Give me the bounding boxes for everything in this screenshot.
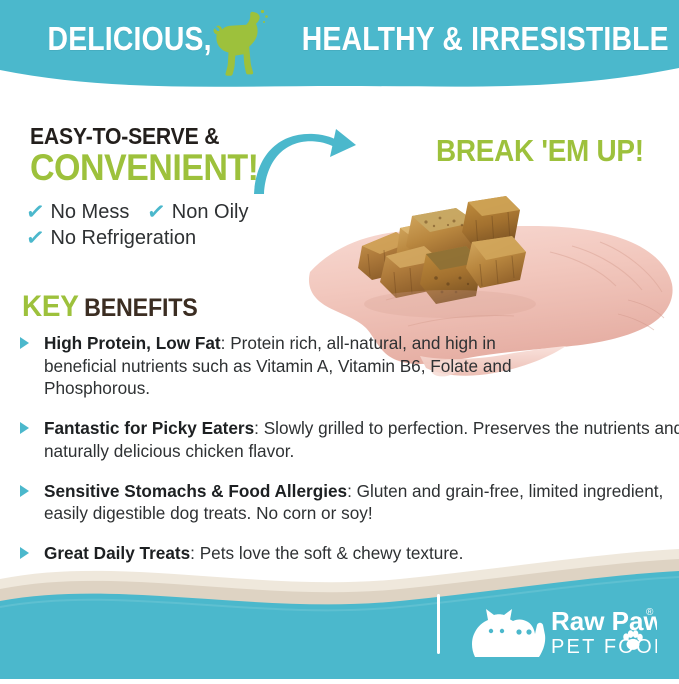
check-label: No Refrigeration	[50, 227, 196, 250]
benefits-list: High Protein, Low Fat: Protein rich, all…	[18, 332, 663, 582]
checks-list: ✓ No Mess ✓ Non Oily ✓ No Refrigeration	[26, 200, 326, 252]
cat-and-dog-silhouette-icon	[472, 609, 545, 657]
key-benefits-heading-key: KEY	[22, 290, 79, 323]
triangle-bullet-icon	[20, 337, 29, 349]
page-title-left: DELICIOUS,	[48, 20, 212, 58]
check-icon: ✓	[25, 226, 46, 250]
benefit-item: High Protein, Low Fat: Protein rich, all…	[18, 332, 564, 400]
benefit-title: Sensitive Stomachs & Food Allergies	[44, 481, 347, 501]
footer-wave: Raw Paws ® PET FOOD	[0, 549, 679, 679]
triangle-bullet-icon	[20, 422, 29, 434]
key-benefits-heading: KEYBENEFITS	[22, 290, 198, 324]
key-benefits-heading-benefits: BENEFITS	[84, 294, 197, 322]
brand-name: Raw Paws	[551, 606, 657, 636]
checks-row-2: ✓ No Refrigeration	[26, 226, 326, 250]
check-label: Non Oily	[172, 201, 249, 224]
check-item-non-oily: ✓ Non Oily	[147, 200, 248, 224]
triangle-bullet-icon	[20, 485, 29, 497]
check-label: No Mess	[50, 201, 129, 224]
check-item-no-mess: ✓ No Mess	[26, 200, 129, 224]
brand-trademark: ®	[646, 607, 654, 618]
benefit-item: Fantastic for Picky Eaters: Slowly grill…	[18, 417, 679, 462]
check-item-no-refrigeration: ✓ No Refrigeration	[26, 226, 196, 250]
raw-paws-logo: Raw Paws ® PET FOOD	[461, 601, 657, 663]
check-icon: ✓	[146, 200, 167, 224]
dog-silhouette-icon	[206, 8, 278, 80]
break-em-up-heading: BREAK 'EM UP!	[436, 133, 644, 169]
footer-divider	[437, 594, 440, 654]
page-title: DELICIOUS, HEALTHY & IRRESISTIBLE	[48, 20, 632, 58]
header-banner: DELICIOUS, HEALTHY & IRRESISTIBLE	[0, 0, 679, 96]
benefit-title: High Protein, Low Fat	[44, 333, 221, 353]
page-title-right: HEALTHY & IRRESISTIBLE	[302, 20, 669, 58]
benefit-title: Fantastic for Picky Eaters	[44, 418, 254, 438]
check-icon: ✓	[25, 200, 46, 224]
benefit-item: Sensitive Stomachs & Food Allergies: Glu…	[18, 480, 679, 525]
checks-row-1: ✓ No Mess ✓ Non Oily	[26, 200, 326, 224]
